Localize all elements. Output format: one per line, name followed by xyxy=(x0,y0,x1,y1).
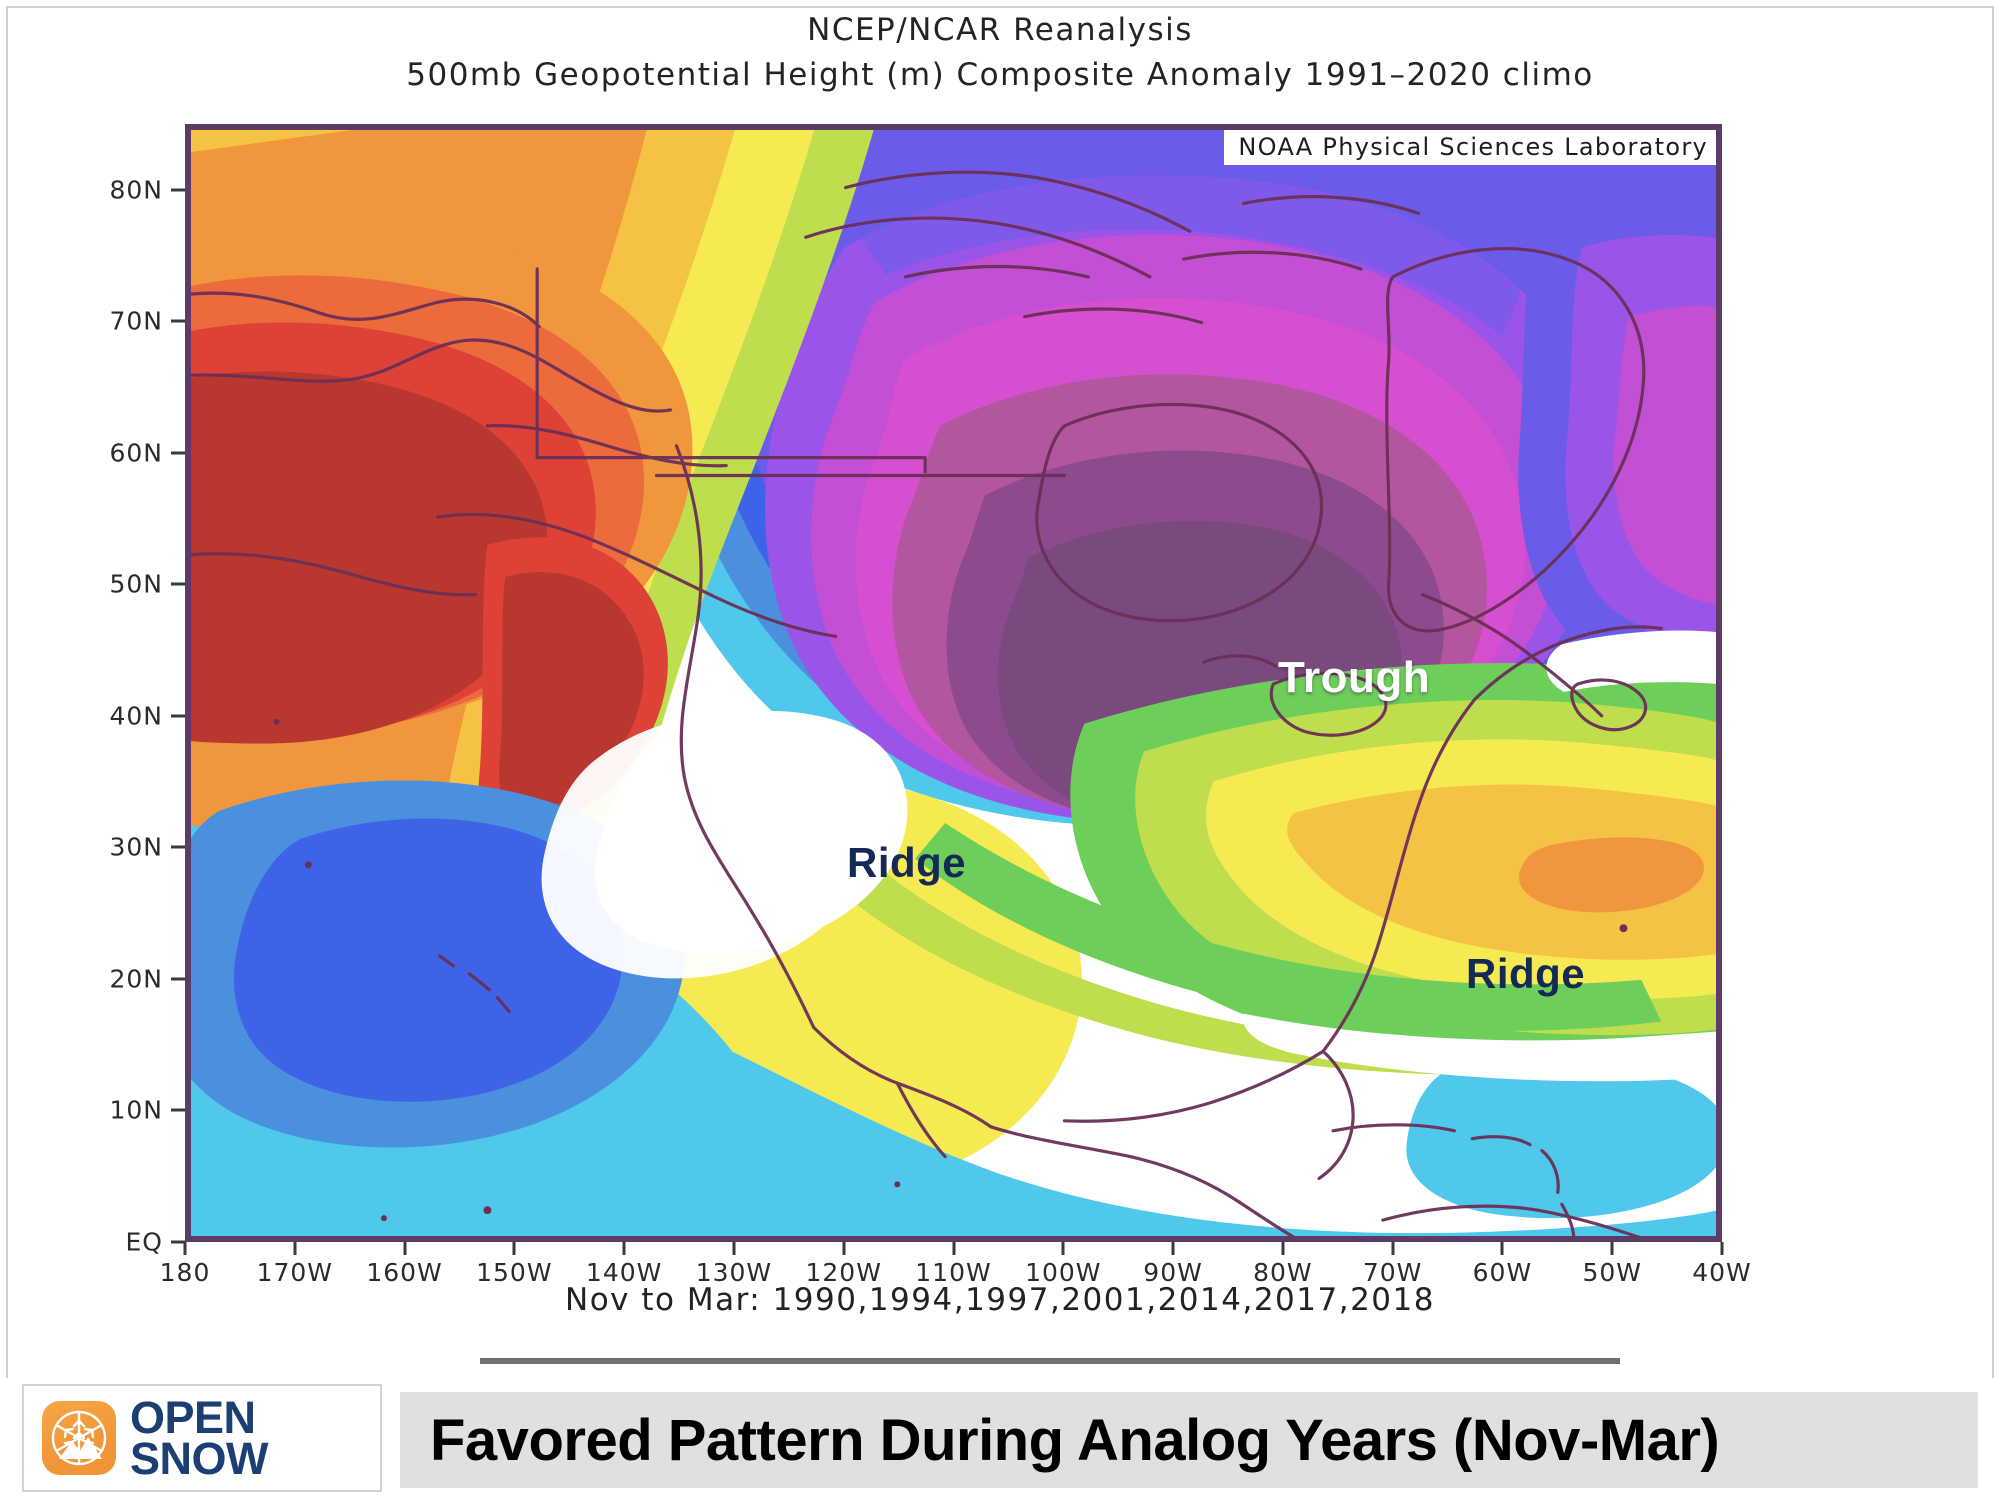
longitude-tick xyxy=(1721,1242,1724,1255)
longitude-tick xyxy=(403,1242,406,1255)
longitude-tick xyxy=(293,1242,296,1255)
latitude-tick-label: 60N xyxy=(35,438,163,467)
annotation-trough: Trough xyxy=(1278,653,1430,703)
latitude-tick xyxy=(171,846,185,849)
latitude-tick xyxy=(171,583,185,586)
opensnow-wordmark: OPEN SNOW xyxy=(130,1397,268,1480)
screenshot-root: NCEP/NCAR Reanalysis 500mb Geopotential … xyxy=(0,0,2000,1500)
longitude-tick xyxy=(1062,1242,1065,1255)
latitude-tick xyxy=(171,451,185,454)
map-plot-area: NOAA Physical Sciences Laboratory Trough… xyxy=(185,124,1722,1242)
opensnow-logo[interactable]: OPEN SNOW xyxy=(22,1384,382,1492)
anomaly-contour-map xyxy=(189,128,1718,1238)
chart-title-line-2: 500mb Geopotential Height (m) Composite … xyxy=(0,52,2000,98)
latitude-tick-label: 50N xyxy=(35,570,163,599)
chart-title-block: NCEP/NCAR Reanalysis 500mb Geopotential … xyxy=(0,8,2000,98)
longitude-tick xyxy=(513,1242,516,1255)
banner-headline: Favored Pattern During Analog Years (Nov… xyxy=(430,1407,1719,1474)
latitude-tick xyxy=(171,320,185,323)
latitude-tick-label: 20N xyxy=(35,964,163,993)
latitude-tick-label: 30N xyxy=(35,833,163,862)
longitude-tick xyxy=(184,1242,187,1255)
bottom-branding-bar: OPEN SNOW Favored Pattern During Analog … xyxy=(0,1378,2000,1500)
latitude-tick-label: EQ xyxy=(35,1228,163,1257)
longitude-tick xyxy=(1611,1242,1614,1255)
longitude-tick xyxy=(623,1242,626,1255)
banner-strip: Favored Pattern During Analog Years (Nov… xyxy=(400,1392,1978,1488)
logo-word-open: OPEN xyxy=(130,1397,268,1438)
longitude-tick xyxy=(952,1242,955,1255)
latitude-tick-label: 70N xyxy=(35,307,163,336)
latitude-tick xyxy=(171,1109,185,1112)
annotation-ridge-east: Ridge xyxy=(1466,950,1585,998)
longitude-tick xyxy=(1172,1242,1175,1255)
latitude-tick-label: 40N xyxy=(35,701,163,730)
latitude-tick xyxy=(171,714,185,717)
longitude-tick xyxy=(1501,1242,1504,1255)
logo-word-snow: SNOW xyxy=(130,1438,268,1479)
latitude-tick-label: 80N xyxy=(35,175,163,204)
analog-years-caption: Nov to Mar: 1990,1994,1997,2001,2014,201… xyxy=(0,1282,2000,1318)
longitude-tick xyxy=(1281,1242,1284,1255)
longitude-tick xyxy=(1391,1242,1394,1255)
noaa-credit-label: NOAA Physical Sciences Laboratory xyxy=(1224,130,1716,165)
snowflake-mountain-icon xyxy=(42,1401,116,1475)
annotation-ridge-west: Ridge xyxy=(847,839,966,887)
longitude-tick xyxy=(732,1242,735,1255)
latitude-tick xyxy=(171,188,185,191)
latitude-tick xyxy=(171,977,185,980)
chart-title-line-1: NCEP/NCAR Reanalysis xyxy=(0,8,2000,52)
latitude-tick-label: 10N xyxy=(35,1096,163,1125)
longitude-tick xyxy=(842,1242,845,1255)
banner-top-rule xyxy=(480,1358,1620,1364)
